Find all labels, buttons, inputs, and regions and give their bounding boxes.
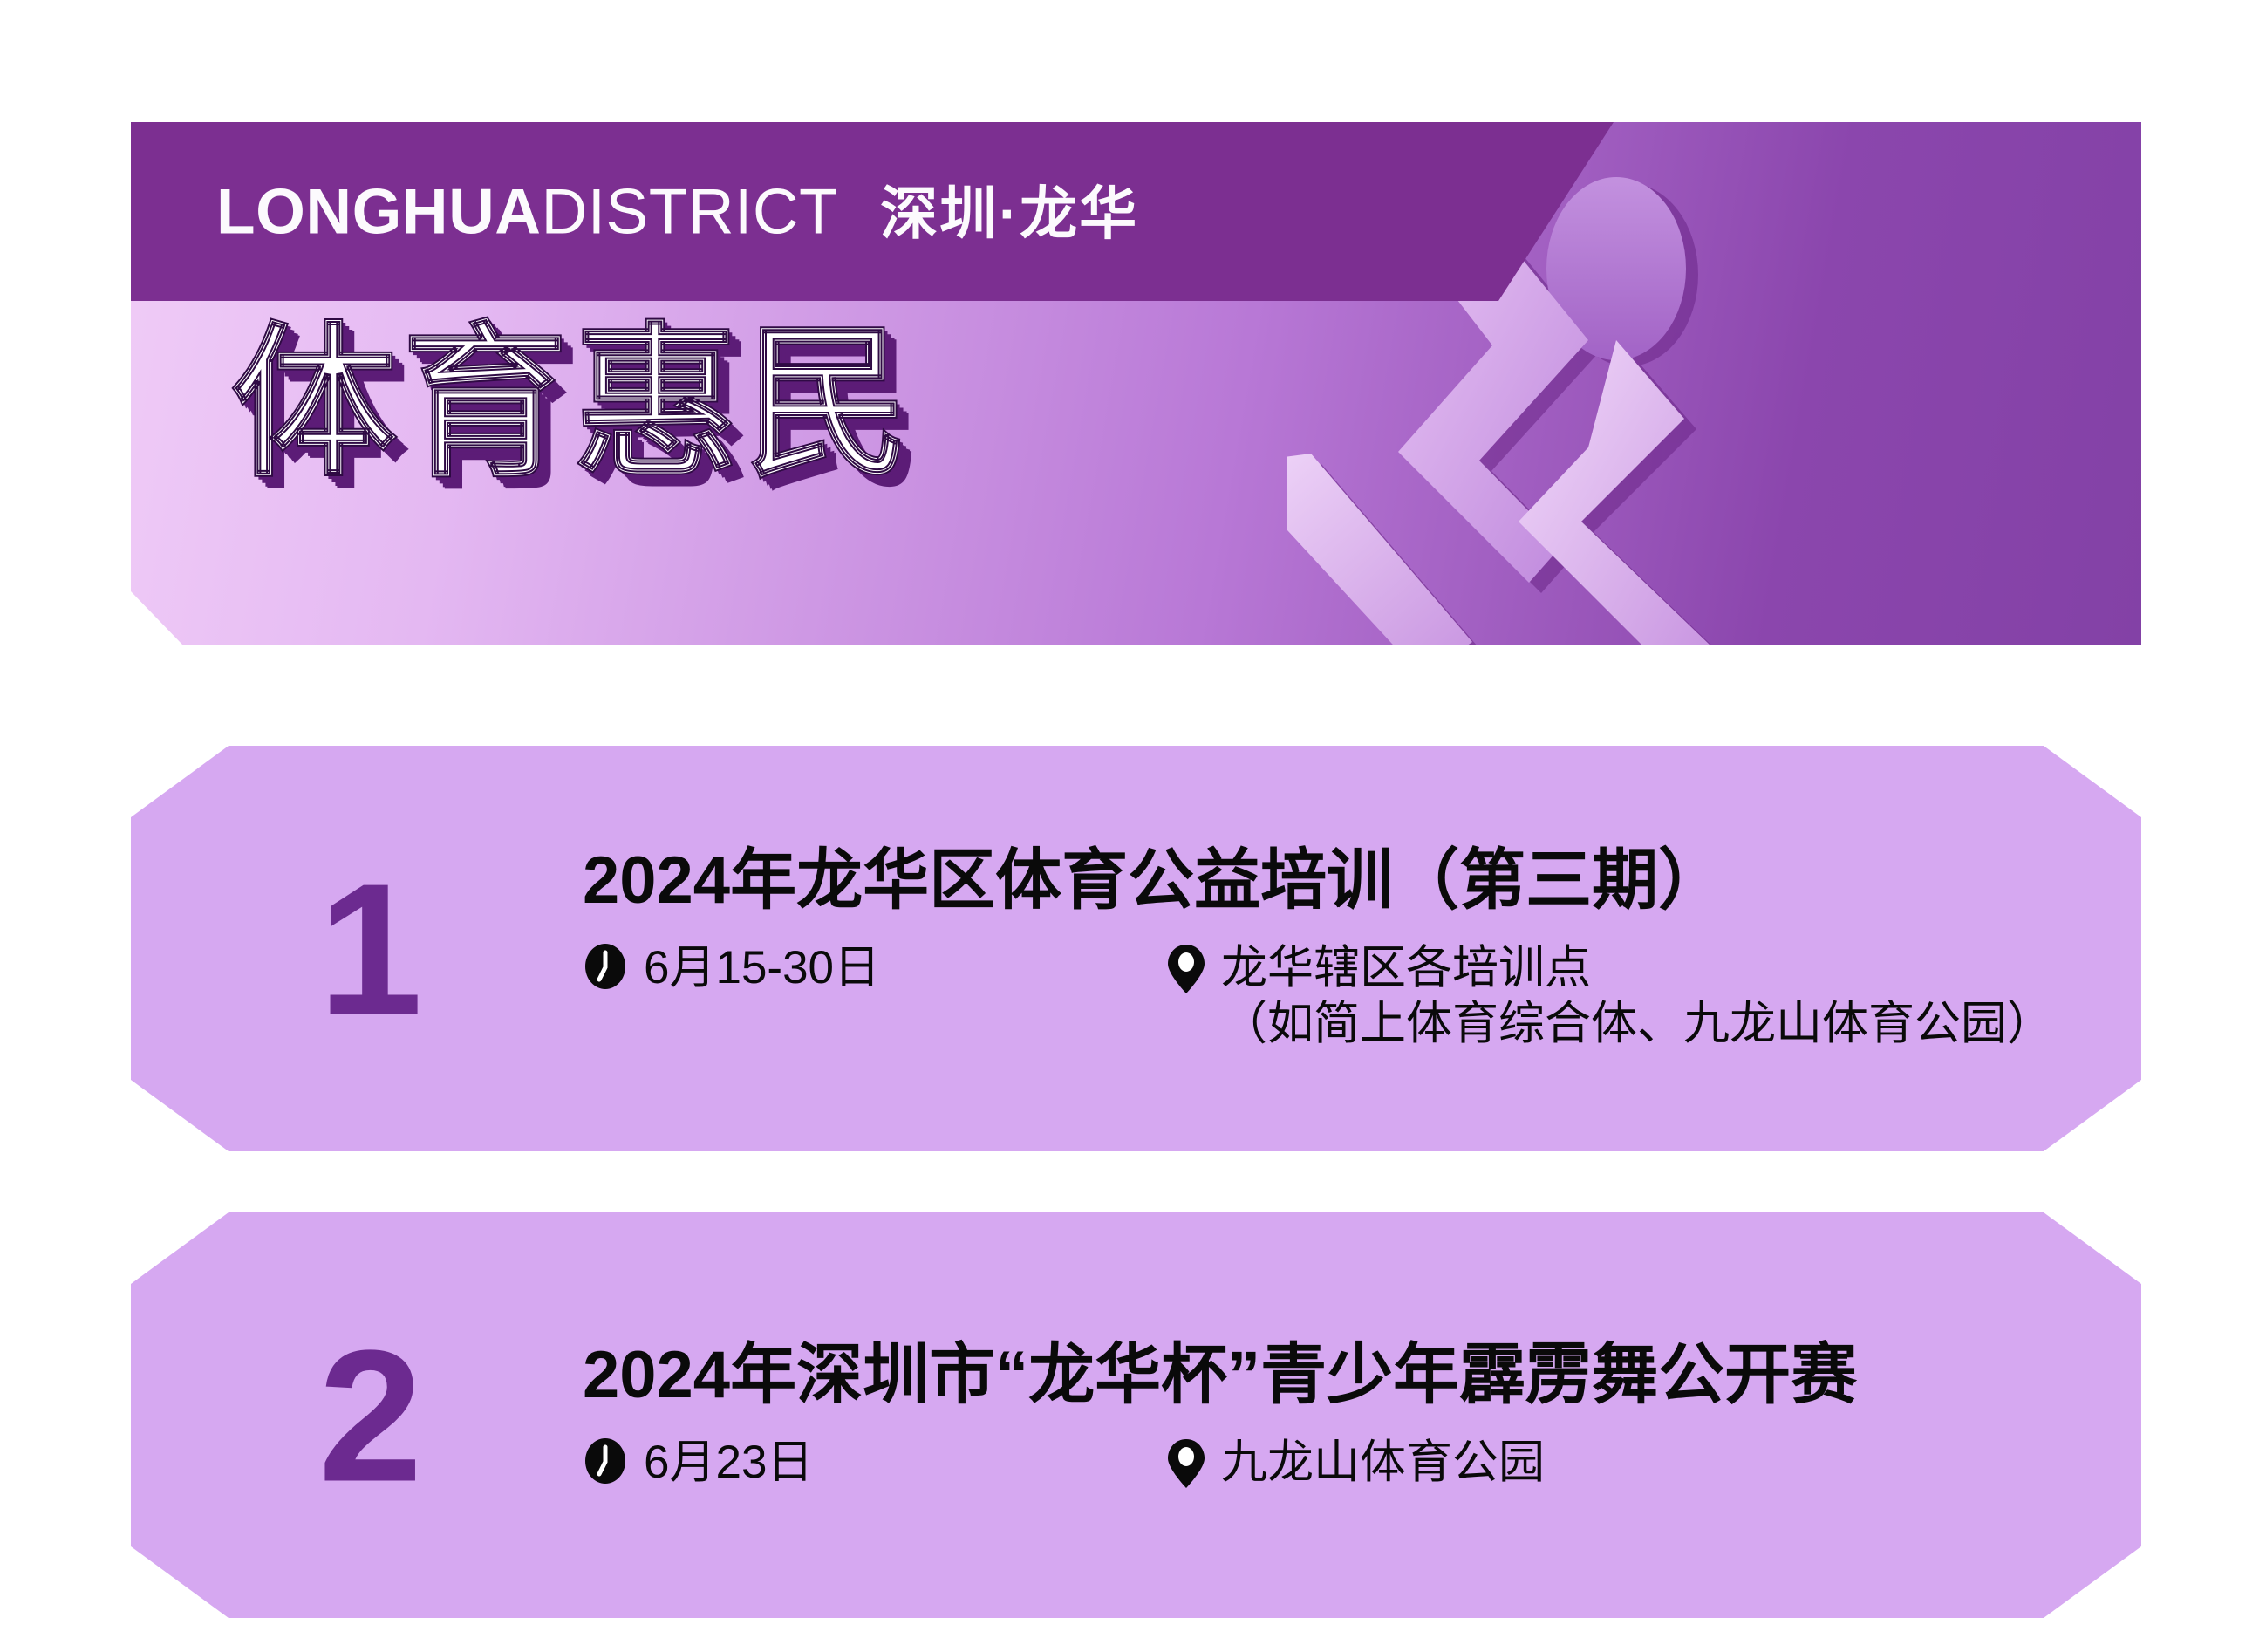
page-title: 体育惠民 (231, 321, 915, 487)
event-meta-2: 6月23日 九龙山体育公园 (583, 1435, 2037, 1492)
brand-english: LONGHUADISTRICT (216, 180, 838, 243)
brand-lockup: LONGHUADISTRICT 深圳·龙华 (216, 180, 1138, 243)
event-place-main-2: 九龙山体育公园 (1221, 1437, 1545, 1488)
event-place-2: 九龙山体育公园 (1221, 1435, 1545, 1492)
event-time-block-2: 6月23日 (583, 1435, 1167, 1492)
brand-chinese: 深圳·龙华 (880, 184, 1138, 242)
event-place-sub-1: （如简上体育综合体、九龙山体育公园） (1221, 996, 2037, 1053)
header-banner: LONGHUADISTRICT 深圳·龙华 体育惠民 (131, 122, 2141, 645)
location-pin-icon (1167, 944, 1205, 994)
event-index-1: 1 (318, 855, 423, 1042)
banner-top-bar: LONGHUADISTRICT 深圳·龙华 (131, 122, 1614, 301)
event-place-block-2: 九龙山体育公园 (1167, 1435, 2037, 1492)
event-place-1: 龙华辖区各培训点 （如简上体育综合体、九龙山体育公园） (1221, 940, 2037, 1053)
event-time-block-1: 6月15-30日 (583, 940, 1167, 997)
event-index-2: 2 (318, 1321, 423, 1509)
event-meta-1: 6月15-30日 龙华辖区各培训点 （如简上体育综合体、九龙山体育公园） (583, 940, 2037, 1053)
event-content-2: 2024年深圳市“龙华杯”青少年霹雳舞公开赛 6月23日 (583, 1212, 2037, 1618)
event-place-block-1: 龙华辖区各培训点 （如简上体育综合体、九龙山体育公园） (1167, 940, 2037, 1053)
clock-icon (583, 944, 628, 989)
event-time-2: 6月23日 (644, 1435, 813, 1492)
event-content-1: 2024年龙华区体育公益培训（第三期） 6月15-30日 (583, 746, 2037, 1151)
event-card-1: 1 2024年龙华区体育公益培训（第三期） 6月15-30日 (131, 746, 2141, 1151)
brand-district: DISTRICT (542, 176, 839, 247)
event-title-1: 2024年龙华区体育公益培训（第三期） (583, 844, 2037, 918)
event-place-main-1: 龙华辖区各培训点 (1221, 942, 1591, 993)
brand-longhua: LONGHUA (216, 176, 542, 247)
event-card-2: 2 2024年深圳市“龙华杯”青少年霹雳舞公开赛 6月23日 (131, 1212, 2141, 1618)
event-time-1: 6月15-30日 (644, 940, 880, 997)
location-pin-icon (1167, 1438, 1205, 1489)
event-title-2: 2024年深圳市“龙华杯”青少年霹雳舞公开赛 (583, 1339, 2037, 1412)
clock-icon (583, 1438, 628, 1484)
